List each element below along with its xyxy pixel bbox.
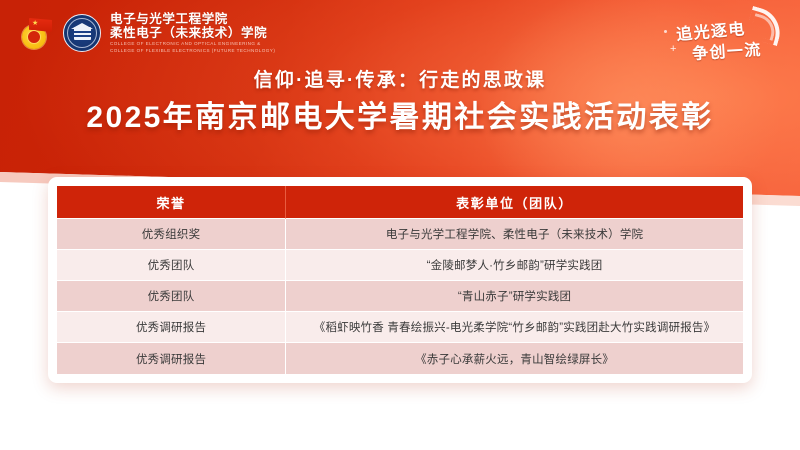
poster-title: 2025年南京邮电大学暑期社会实践活动表彰 bbox=[0, 99, 800, 137]
table-row: 优秀组织奖电子与光学工程学院、柔性电子（未来技术）学院 bbox=[57, 219, 743, 250]
table-row: 优秀调研报告《赤子心承薪火远，青山智绘绿屏长》 bbox=[57, 343, 743, 374]
table-row: 优秀团队“金陵邮梦人·竹乡邮韵”研学实践团 bbox=[57, 250, 743, 281]
college-name-en-1: COLLEGE OF ELECTRONIC AND OPTICAL ENGINE… bbox=[110, 41, 275, 48]
cell-honor: 优秀团队 bbox=[57, 250, 286, 281]
college-names: 电子与光学工程学院 柔性电子（未来技术）学院 COLLEGE OF ELECTR… bbox=[110, 12, 275, 54]
cell-unit: 《稻虾映竹香 青春绘振兴-电光柔学院“竹乡邮韵”实践团赴大竹实践调研报告》 bbox=[286, 312, 743, 343]
star-icon: ★ bbox=[32, 20, 38, 27]
honors-table-card: 荣誉 表彰单位（团队） 优秀组织奖电子与光学工程学院、柔性电子（未来技术）学院优… bbox=[48, 177, 752, 383]
table-header: 荣誉 表彰单位（团队） bbox=[57, 186, 743, 219]
slogan-line-2: 争创一流 bbox=[691, 36, 762, 64]
cell-unit: “青山赤子”研学实践团 bbox=[286, 281, 743, 312]
honors-table: 荣誉 表彰单位（团队） 优秀组织奖电子与光学工程学院、柔性电子（未来技术）学院优… bbox=[57, 186, 743, 374]
college-name-line-1: 电子与光学工程学院 bbox=[110, 12, 275, 27]
cell-honor: 优秀组织奖 bbox=[57, 219, 286, 250]
cell-honor: 优秀调研报告 bbox=[57, 312, 286, 343]
table-row: 优秀调研报告《稻虾映竹香 青春绘振兴-电光柔学院“竹乡邮韵”实践团赴大竹实践调研… bbox=[57, 312, 743, 343]
column-header-unit: 表彰单位（团队） bbox=[286, 186, 743, 219]
slogan-graphic: + 追光逐电 争创一流 bbox=[662, 8, 784, 62]
plus-icon: + bbox=[670, 44, 676, 55]
logo-cluster: ★ 电子与光学工程学院 柔性电子（未来技术）学院 COLLEGE OF ELEC… bbox=[20, 12, 275, 54]
sparkle-dot-icon bbox=[664, 30, 667, 33]
poster-subtitle: 信仰·追寻·传承：行走的思政课 bbox=[0, 68, 800, 94]
njupt-college-emblem-icon bbox=[63, 14, 101, 52]
college-name-en-2: COLLEGE OF FLEXIBLE ELECTRONICS (FUTURE … bbox=[110, 47, 275, 54]
table-row: 优秀团队“青山赤子”研学实践团 bbox=[57, 281, 743, 312]
cell-unit: “金陵邮梦人·竹乡邮韵”研学实践团 bbox=[286, 250, 743, 281]
poster-canvas: ★ 电子与光学工程学院 柔性电子（未来技术）学院 COLLEGE OF ELEC… bbox=[0, 0, 800, 450]
college-name-line-2: 柔性电子（未来技术）学院 bbox=[110, 26, 275, 41]
emblem-center-icon bbox=[27, 30, 41, 44]
column-header-honor: 荣誉 bbox=[57, 186, 286, 219]
communist-youth-league-emblem-icon: ★ bbox=[20, 16, 54, 50]
cell-honor: 优秀调研报告 bbox=[57, 343, 286, 374]
table-body: 优秀组织奖电子与光学工程学院、柔性电子（未来技术）学院优秀团队“金陵邮梦人·竹乡… bbox=[57, 219, 743, 374]
title-block: 信仰·追寻·传承：行走的思政课 2025年南京邮电大学暑期社会实践活动表彰 bbox=[0, 68, 800, 137]
cell-honor: 优秀团队 bbox=[57, 281, 286, 312]
table-header-row: 荣誉 表彰单位（团队） bbox=[57, 186, 743, 219]
book-icon bbox=[74, 27, 91, 40]
cell-unit: 《赤子心承薪火远，青山智绘绿屏长》 bbox=[286, 343, 743, 374]
cell-unit: 电子与光学工程学院、柔性电子（未来技术）学院 bbox=[286, 219, 743, 250]
